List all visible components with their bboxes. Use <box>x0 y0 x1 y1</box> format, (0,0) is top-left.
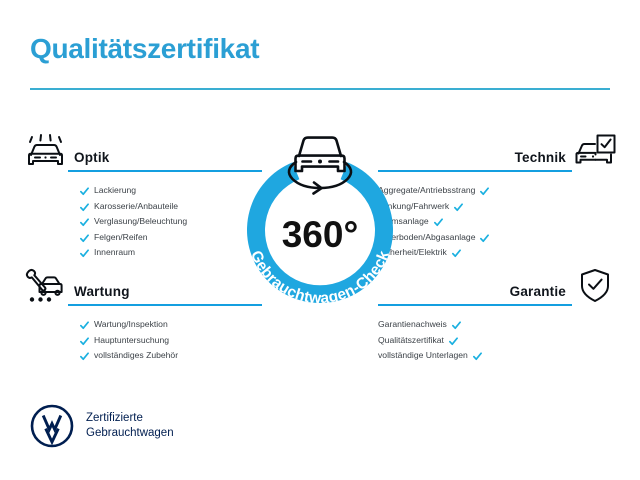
check-icon <box>80 186 89 195</box>
list-item-label: Qualitätszertifikat <box>378 333 444 349</box>
check-icon <box>80 202 89 211</box>
badge-360-gebrauchtwagen-check: 360° Gebrauchtwagen-Check <box>222 112 418 322</box>
check-icon <box>80 336 89 345</box>
footer-logo-line2: Gebrauchtwagen <box>86 426 174 441</box>
check-icon <box>452 320 461 329</box>
list-item-label: Innenraum <box>94 245 135 261</box>
list-item-label: Wartung/Inspektion <box>94 317 168 333</box>
list-item-label: Felgen/Reifen <box>94 230 148 246</box>
badge-center-label: 360° <box>282 214 359 255</box>
check-icon <box>80 320 89 329</box>
list-item-label: vollständige Unterlagen <box>378 348 468 364</box>
car-checkbox-icon <box>572 132 618 174</box>
list-item-label: Lackierung <box>94 183 136 199</box>
page-title: Qualitätszertifikat <box>30 33 259 65</box>
footer-logo-text: Zertifizierte Gebrauchtwagen <box>86 411 174 441</box>
check-icon <box>80 351 89 360</box>
vw-logo-icon <box>30 404 74 448</box>
quality-certificate-page: Qualitätszertifikat Optik <box>0 0 640 480</box>
footer-logo-block: Zertifizierte Gebrauchtwagen <box>30 404 174 448</box>
list-item-label: vollständiges Zubehör <box>94 348 178 364</box>
check-icon <box>473 351 482 360</box>
list-item: Qualitätszertifikat <box>378 333 618 349</box>
list-item-label: Karosserie/Anbauteile <box>94 199 178 215</box>
check-icon <box>452 248 461 257</box>
car-shine-icon <box>22 132 68 174</box>
check-icon <box>480 186 489 195</box>
header-divider <box>30 88 610 90</box>
footer-logo-line1: Zertifizierte <box>86 411 174 426</box>
list-item-label: Verglasung/Beleuchtung <box>94 214 187 230</box>
check-icon <box>80 248 89 257</box>
shield-check-icon <box>572 266 618 308</box>
check-icon <box>80 233 89 242</box>
list-item: vollständiges Zubehör <box>22 348 262 364</box>
check-icon <box>434 217 443 226</box>
check-icon <box>80 217 89 226</box>
check-icon <box>454 202 463 211</box>
check-icon <box>449 336 458 345</box>
list-item-label: Hauptuntersuchung <box>94 333 169 349</box>
list-item: Hauptuntersuchung <box>22 333 262 349</box>
car-wrench-icon <box>22 266 68 308</box>
check-icon <box>480 233 489 242</box>
car-rotate-icon <box>289 138 351 194</box>
list-item: vollständige Unterlagen <box>378 348 618 364</box>
